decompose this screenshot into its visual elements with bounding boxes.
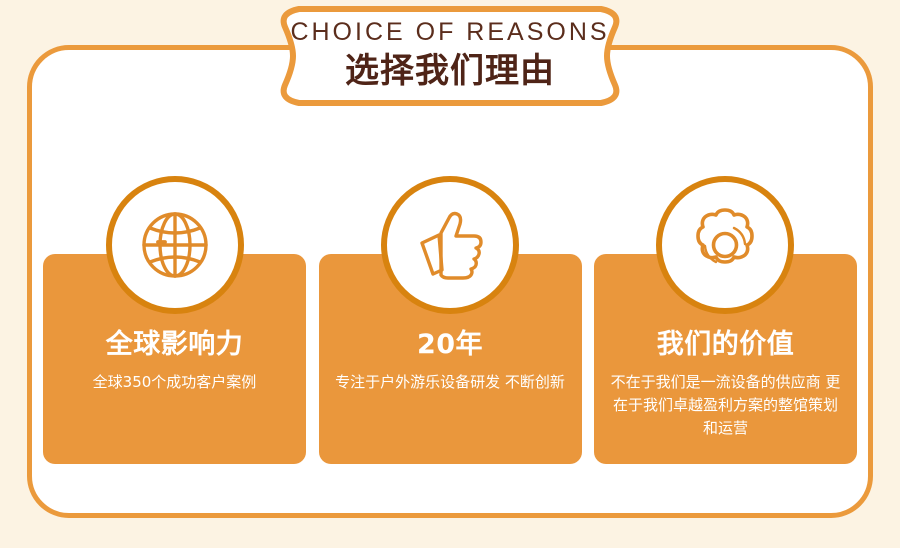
card-body-text: 全球350个成功客户案例 [93, 371, 257, 394]
card-body-text: 不在于我们是一流设备的供应商 更在于我们卓越盈利方案的整馆策划和运营 [607, 371, 845, 441]
infographic-stage: CHOICE OF REASONS 选择我们理由 全球影响力 全球350个成功客… [0, 0, 900, 548]
gear-icon-badge [656, 176, 794, 314]
globe-icon-badge [106, 176, 244, 314]
card-heading: 我们的价值 [657, 330, 795, 360]
gear-icon [682, 202, 768, 288]
title-banner: CHOICE OF REASONS 选择我们理由 [263, 3, 637, 110]
thumbs-up-icon [408, 203, 492, 287]
card-body-text: 专注于户外游乐设备研发 不断创新 [335, 371, 565, 394]
thumbs-up-icon-badge [381, 176, 519, 314]
globe-icon [132, 202, 218, 288]
card-heading: 20年 [417, 330, 483, 360]
banner-shape [263, 3, 637, 110]
card-heading: 全球影响力 [106, 330, 244, 360]
